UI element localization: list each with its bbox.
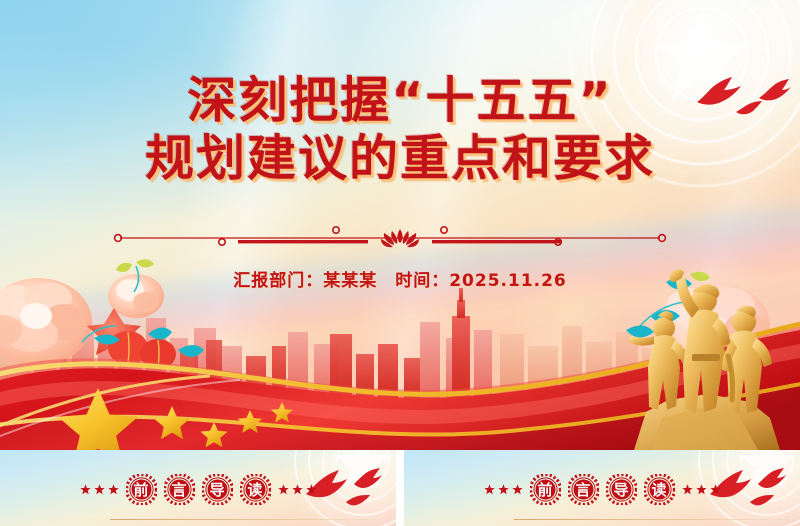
seal-badge-qian[interactable]: 前 bbox=[530, 474, 561, 505]
star-icon bbox=[498, 484, 509, 495]
star-icon bbox=[710, 484, 721, 495]
star-icon bbox=[696, 484, 707, 495]
star-icon bbox=[278, 484, 289, 495]
title-slide[interactable]: 深刻把握“十五五” 规划建议的重点和要求 bbox=[0, 0, 800, 450]
star-icon bbox=[682, 484, 693, 495]
preface-badge-row: 前 言 导 bbox=[404, 470, 800, 508]
seal-badge-qian[interactable]: 前 bbox=[126, 474, 157, 505]
seal-badge-du[interactable]: 读 bbox=[240, 474, 271, 505]
seal-badge-yan[interactable]: 言 bbox=[164, 474, 195, 505]
seal-badge-yan[interactable]: 言 bbox=[568, 474, 599, 505]
preface-badge-row: 前 言 导 bbox=[0, 470, 396, 508]
seal-badge-dao[interactable]: 导 bbox=[202, 474, 233, 505]
seal-badge-dao[interactable]: 导 bbox=[606, 474, 637, 505]
seal-label: 言 bbox=[568, 474, 599, 505]
star-icon bbox=[306, 484, 317, 495]
star-icon bbox=[484, 484, 495, 495]
stars-left bbox=[80, 484, 119, 495]
star-icon bbox=[94, 484, 105, 495]
slide-title: 深刻把握“十五五” 规划建议的重点和要求 bbox=[0, 72, 800, 188]
seal-label: 言 bbox=[164, 474, 195, 505]
preface-panel-right[interactable]: 前 言 导 bbox=[404, 450, 800, 526]
star-icon bbox=[292, 484, 303, 495]
seal-label: 导 bbox=[606, 474, 637, 505]
panel-underline bbox=[514, 519, 800, 520]
star-icon bbox=[80, 484, 91, 495]
seal-label: 导 bbox=[202, 474, 233, 505]
title-line-2: 规划建议的重点和要求 bbox=[0, 130, 800, 188]
title-line-1: 深刻把握“十五五” bbox=[0, 72, 800, 130]
seal-label: 读 bbox=[240, 474, 271, 505]
seal-label: 读 bbox=[644, 474, 675, 505]
stars-right bbox=[682, 484, 721, 495]
seal-label: 前 bbox=[126, 474, 157, 505]
thumbnail-panels: 前 言 导 bbox=[0, 450, 800, 526]
preface-panel-left[interactable]: 前 言 导 bbox=[0, 450, 396, 526]
seal-label: 前 bbox=[530, 474, 561, 505]
golden-statue bbox=[612, 260, 792, 450]
seal-badge-du[interactable]: 读 bbox=[644, 474, 675, 505]
stars-left bbox=[484, 484, 523, 495]
lotus-ornament-icon bbox=[381, 229, 419, 247]
star-icon bbox=[108, 484, 119, 495]
panel-underline bbox=[110, 519, 396, 520]
star-icon bbox=[512, 484, 523, 495]
stars-right bbox=[278, 484, 317, 495]
presentation-canvas: 深刻把握“十五五” 规划建议的重点和要求 bbox=[0, 0, 800, 526]
